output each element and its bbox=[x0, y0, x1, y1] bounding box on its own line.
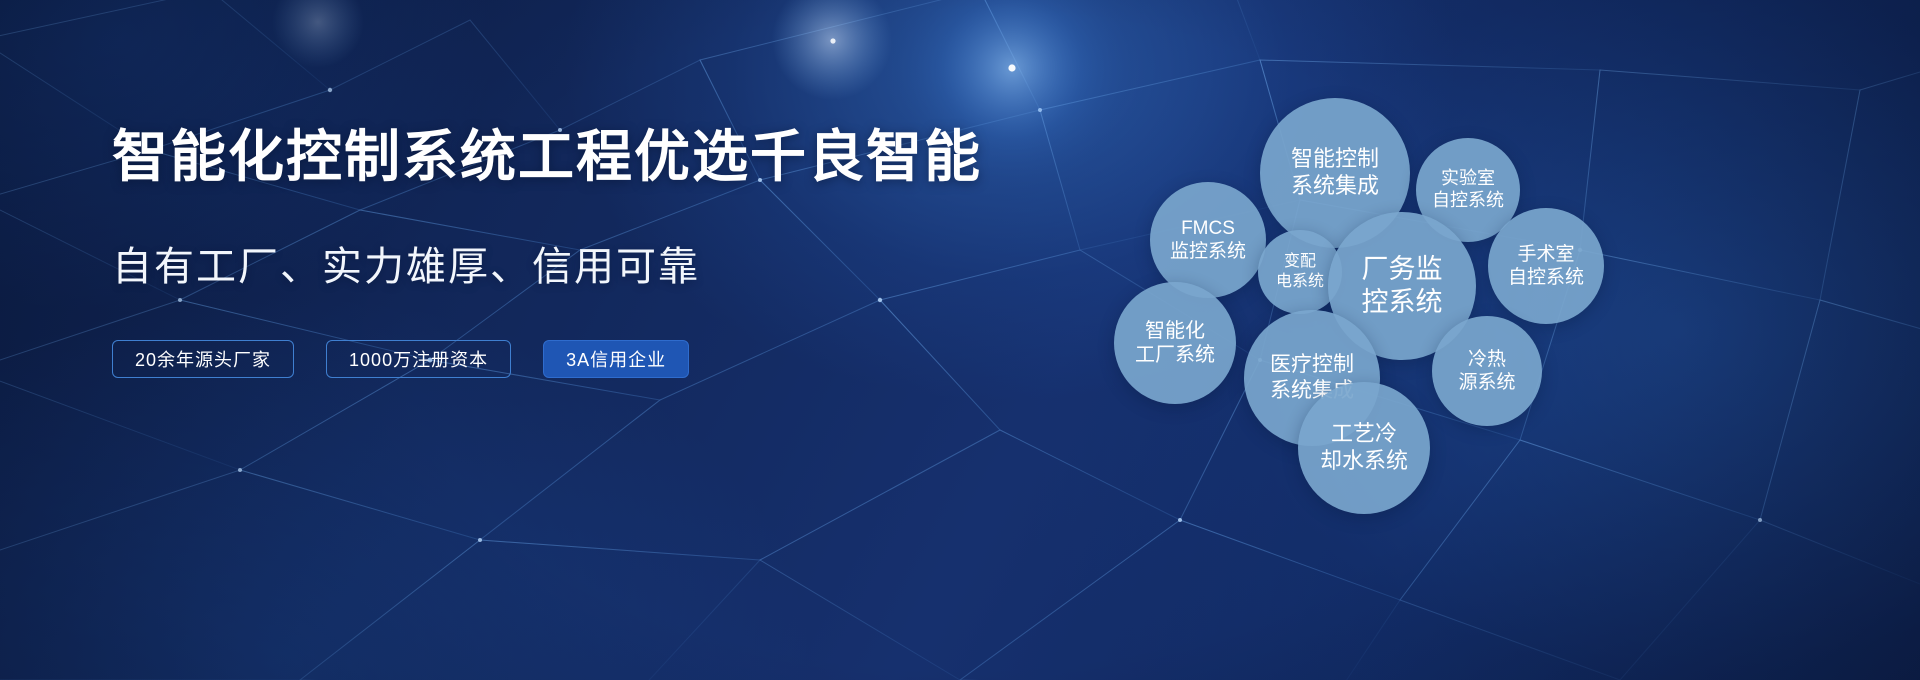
service-bubble-label: 却水系统 bbox=[1320, 448, 1408, 475]
service-bubble-cluster: 智能控制系统集成实验室自控系统FMCS监控系统变配电系统手术室自控系统厂务监控系… bbox=[1150, 60, 1870, 620]
hero-copy: 智能化控制系统工程优选千良智能 自有工厂、实力雄厚、信用可靠 20余年源头厂家 … bbox=[112, 124, 932, 378]
service-bubble[interactable]: 工艺冷却水系统 bbox=[1298, 382, 1430, 514]
badge-credit-rating[interactable]: 3A信用企业 bbox=[543, 340, 689, 378]
service-bubble[interactable]: 智能化工厂系统 bbox=[1114, 282, 1236, 404]
service-bubble[interactable]: 冷热源系统 bbox=[1432, 316, 1542, 426]
service-bubble[interactable]: 手术室自控系统 bbox=[1488, 208, 1604, 324]
badge-capital[interactable]: 1000万注册资本 bbox=[326, 340, 511, 378]
service-bubble-label: 自控系统 bbox=[1432, 190, 1504, 212]
badge-list: 20余年源头厂家 1000万注册资本 3A信用企业 bbox=[112, 340, 932, 378]
service-bubble-label: 监控系统 bbox=[1170, 240, 1246, 263]
page-title: 智能化控制系统工程优选千良智能 bbox=[112, 124, 932, 190]
service-bubble-label: 智能控制 bbox=[1291, 146, 1379, 173]
service-bubble-label: FMCS bbox=[1181, 217, 1235, 240]
service-bubble-label: 智能化 bbox=[1145, 319, 1205, 343]
service-bubble-label: 冷热 bbox=[1468, 348, 1506, 371]
service-bubble-label: 源系统 bbox=[1458, 371, 1515, 394]
service-bubble-label: 自控系统 bbox=[1508, 266, 1584, 289]
service-bubble-label: 工厂系统 bbox=[1135, 343, 1215, 367]
badge-years[interactable]: 20余年源头厂家 bbox=[112, 340, 294, 378]
service-bubble-label: 实验室 bbox=[1441, 168, 1495, 190]
service-bubble-label: 系统集成 bbox=[1291, 173, 1379, 200]
service-bubble-label: 手术室 bbox=[1517, 243, 1574, 266]
service-bubble-label: 医疗控制 bbox=[1270, 352, 1354, 378]
service-bubble-label: 工艺冷 bbox=[1331, 421, 1397, 448]
service-bubble-label: 变配 bbox=[1284, 252, 1316, 272]
service-bubble-label: 控系统 bbox=[1362, 286, 1443, 319]
service-bubble-label: 厂务监 bbox=[1362, 253, 1443, 286]
service-bubble[interactable]: FMCS监控系统 bbox=[1150, 182, 1266, 298]
hero-subtitle: 自有工厂、实力雄厚、信用可靠 bbox=[112, 234, 932, 292]
service-bubble-label: 电系统 bbox=[1276, 272, 1324, 292]
hero-banner: 智能化控制系统工程优选千良智能 自有工厂、实力雄厚、信用可靠 20余年源头厂家 … bbox=[0, 0, 1920, 680]
